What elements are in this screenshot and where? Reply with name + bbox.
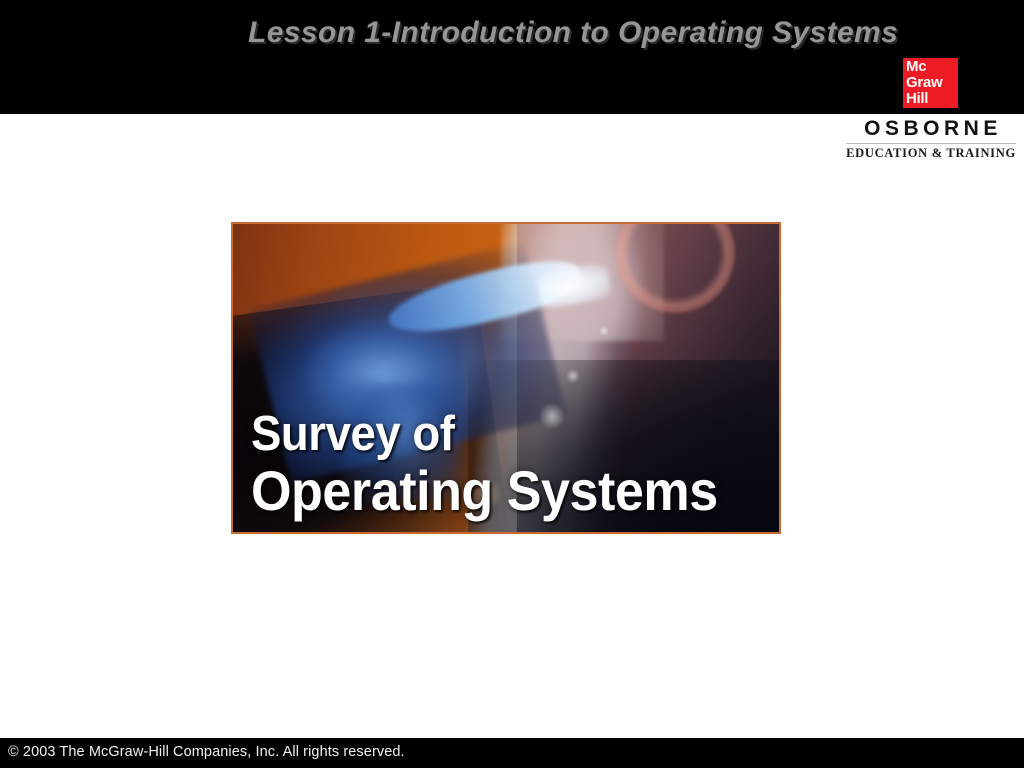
mcgraw-hill-logo: Mc Graw Hill — [903, 58, 958, 108]
slide-footer-bar: © 2003 The McGraw-Hill Companies, Inc. A… — [0, 738, 1024, 768]
osborne-logo: OSBORNE EDUCATION & TRAINING — [843, 117, 1019, 160]
presentation-slide: Lesson 1-Introduction to Operating Syste… — [0, 0, 1024, 768]
osborne-logo-name: OSBORNE — [843, 117, 1019, 141]
cover-bokeh-dot — [566, 369, 580, 383]
book-cover-title-line-2: Operating Systems — [251, 460, 735, 522]
copyright-notice: © 2003 The McGraw-Hill Companies, Inc. A… — [8, 744, 405, 760]
book-cover-title: Survey of Operating Systems — [251, 408, 771, 522]
cover-bokeh-dot — [599, 326, 609, 336]
book-cover-image: Survey of Operating Systems — [231, 222, 781, 534]
page-title: Lesson 1-Introduction to Operating Syste… — [248, 12, 938, 54]
osborne-logo-divider — [846, 143, 1016, 144]
mcgraw-hill-logo-line-3: Hill — [906, 91, 958, 107]
mcgraw-hill-logo-line-2: Graw — [906, 75, 958, 91]
book-cover-title-line-1: Survey of — [251, 408, 735, 460]
mcgraw-hill-logo-line-1: Mc — [906, 59, 958, 75]
osborne-logo-tagline: EDUCATION & TRAINING — [843, 146, 1019, 160]
